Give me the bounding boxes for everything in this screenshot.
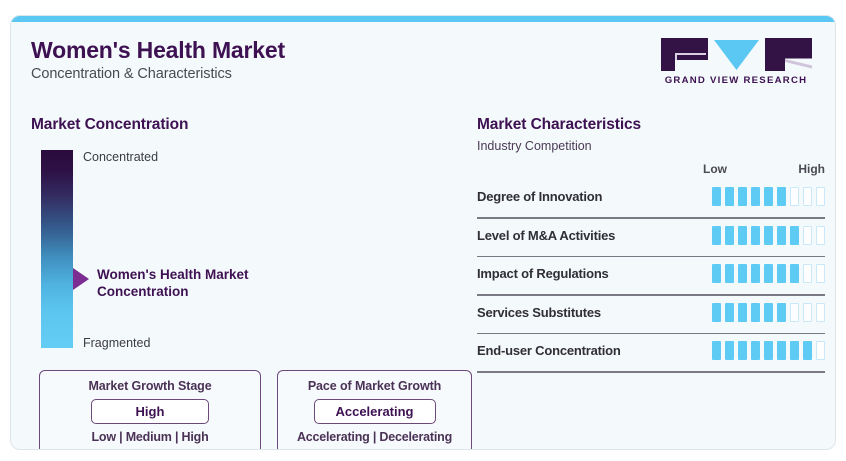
row-divider bbox=[477, 333, 825, 335]
rating-bar-filled bbox=[725, 226, 734, 245]
characteristic-label: Degree of Innovation bbox=[477, 189, 602, 204]
rating-bar-filled bbox=[738, 341, 747, 360]
rating-bar-filled bbox=[790, 341, 799, 360]
rating-bars bbox=[712, 341, 825, 360]
logo-v-icon bbox=[713, 38, 760, 71]
growth-summary-boxes: Market Growth Stage High Low | Medium | … bbox=[39, 370, 472, 450]
rating-bar-filled bbox=[712, 226, 721, 245]
row-divider bbox=[477, 256, 825, 258]
header: Women's Health Market Concentration & Ch… bbox=[11, 22, 835, 108]
market-growth-stage-box: Market Growth Stage High Low | Medium | … bbox=[39, 370, 261, 450]
rating-bar-filled bbox=[764, 187, 773, 206]
rating-bar-empty bbox=[816, 187, 825, 206]
rating-bar-empty bbox=[816, 341, 825, 360]
rating-bar-empty bbox=[803, 187, 812, 206]
rating-bar-filled bbox=[725, 341, 734, 360]
rating-bar-filled bbox=[764, 264, 773, 283]
section-heading-market-characteristics: Market Characteristics bbox=[477, 116, 825, 134]
rating-bar-filled bbox=[725, 187, 734, 206]
rating-bar-empty bbox=[816, 264, 825, 283]
rating-bars bbox=[712, 226, 825, 245]
rating-bar-empty bbox=[816, 303, 825, 322]
pace-value: Accelerating bbox=[314, 399, 436, 424]
rating-bar-empty bbox=[803, 303, 812, 322]
concentration-scale: Concentrated Fragmented Women's Health M… bbox=[31, 150, 461, 348]
characteristic-row: Services Substitutes bbox=[477, 299, 825, 326]
characteristic-label: Services Substitutes bbox=[477, 305, 601, 320]
marker-arrow-icon bbox=[73, 268, 89, 290]
rating-bars bbox=[712, 264, 825, 283]
rating-bar-filled bbox=[725, 303, 734, 322]
rating-bar-filled bbox=[712, 341, 721, 360]
infographic-card: Women's Health Market Concentration & Ch… bbox=[10, 15, 836, 450]
growth-stage-value: High bbox=[91, 399, 209, 424]
rating-bar-filled bbox=[751, 226, 760, 245]
section-subheading-industry-competition: Industry Competition bbox=[477, 139, 825, 153]
row-divider bbox=[477, 294, 825, 296]
rating-scale-high-label: High bbox=[798, 162, 825, 176]
rating-bar-filled bbox=[777, 187, 786, 206]
scale-top-label: Concentrated bbox=[83, 150, 158, 164]
rating-bar-filled bbox=[712, 187, 721, 206]
characteristic-label: End-user Concentration bbox=[477, 343, 621, 358]
rating-bar-filled bbox=[764, 226, 773, 245]
row-divider bbox=[477, 371, 825, 373]
pace-of-market-growth-box: Pace of Market Growth Accelerating Accel… bbox=[277, 370, 472, 450]
characteristic-row: End-user Concentration bbox=[477, 337, 825, 364]
growth-stage-options: Low | Medium | High bbox=[52, 430, 248, 444]
rating-scale-header: Low High bbox=[477, 162, 825, 180]
row-divider bbox=[477, 217, 825, 219]
rating-bar-filled bbox=[751, 341, 760, 360]
characteristics-rows: Degree of InnovationLevel of M&A Activit… bbox=[477, 183, 825, 373]
brand-logo: GRAND VIEW RESEARCH bbox=[651, 38, 821, 86]
rating-bar-filled bbox=[738, 264, 747, 283]
rating-bar-filled bbox=[738, 303, 747, 322]
rating-bars bbox=[712, 187, 825, 206]
logo-g-icon bbox=[661, 38, 708, 71]
rating-bar-filled bbox=[725, 264, 734, 283]
rating-bar-filled bbox=[764, 303, 773, 322]
marker-label: Women's Health Market Concentration bbox=[97, 267, 287, 301]
rating-bar-filled bbox=[751, 264, 760, 283]
rating-scale-low-label: Low bbox=[703, 162, 727, 176]
logo-wordmark: GRAND VIEW RESEARCH bbox=[651, 75, 821, 86]
rating-bar-filled bbox=[777, 264, 786, 283]
rating-bar-filled bbox=[751, 303, 760, 322]
scale-bottom-label: Fragmented bbox=[83, 336, 150, 350]
growth-stage-title: Market Growth Stage bbox=[52, 379, 248, 393]
concentration-marker: Women's Health Market Concentration bbox=[73, 267, 287, 301]
rating-bar-filled bbox=[777, 303, 786, 322]
characteristic-row: Impact of Regulations bbox=[477, 260, 825, 287]
rating-bar-filled bbox=[712, 303, 721, 322]
logo-marks bbox=[651, 38, 821, 71]
rating-bar-filled bbox=[803, 341, 812, 360]
rating-bar-empty bbox=[790, 187, 799, 206]
market-concentration-section: Market Concentration Concentrated Fragme… bbox=[31, 116, 461, 348]
rating-bar-filled bbox=[738, 226, 747, 245]
rating-bar-filled bbox=[790, 226, 799, 245]
characteristic-row: Degree of Innovation bbox=[477, 183, 825, 210]
rating-bar-filled bbox=[777, 341, 786, 360]
rating-bars bbox=[712, 303, 825, 322]
rating-bar-empty bbox=[816, 226, 825, 245]
title-block: Women's Health Market Concentration & Ch… bbox=[31, 38, 285, 82]
characteristic-row: Level of M&A Activities bbox=[477, 222, 825, 249]
rating-bar-filled bbox=[790, 264, 799, 283]
rating-bar-empty bbox=[803, 264, 812, 283]
rating-bar-empty bbox=[803, 226, 812, 245]
pace-title: Pace of Market Growth bbox=[290, 379, 459, 393]
logo-r-icon bbox=[765, 38, 812, 71]
section-heading-market-concentration: Market Concentration bbox=[31, 116, 461, 134]
rating-bar-filled bbox=[712, 264, 721, 283]
concentration-gradient-bar bbox=[41, 150, 73, 348]
market-characteristics-section: Market Characteristics Industry Competit… bbox=[477, 116, 825, 375]
characteristic-label: Level of M&A Activities bbox=[477, 228, 615, 243]
rating-bar-filled bbox=[764, 341, 773, 360]
rating-bar-filled bbox=[751, 187, 760, 206]
pace-options: Accelerating | Decelerating bbox=[290, 430, 459, 444]
characteristic-label: Impact of Regulations bbox=[477, 266, 609, 281]
page-title: Women's Health Market bbox=[31, 38, 285, 62]
page-subtitle: Concentration & Characteristics bbox=[31, 66, 285, 82]
rating-bar-filled bbox=[738, 187, 747, 206]
rating-bar-empty bbox=[790, 303, 799, 322]
rating-bar-filled bbox=[777, 226, 786, 245]
